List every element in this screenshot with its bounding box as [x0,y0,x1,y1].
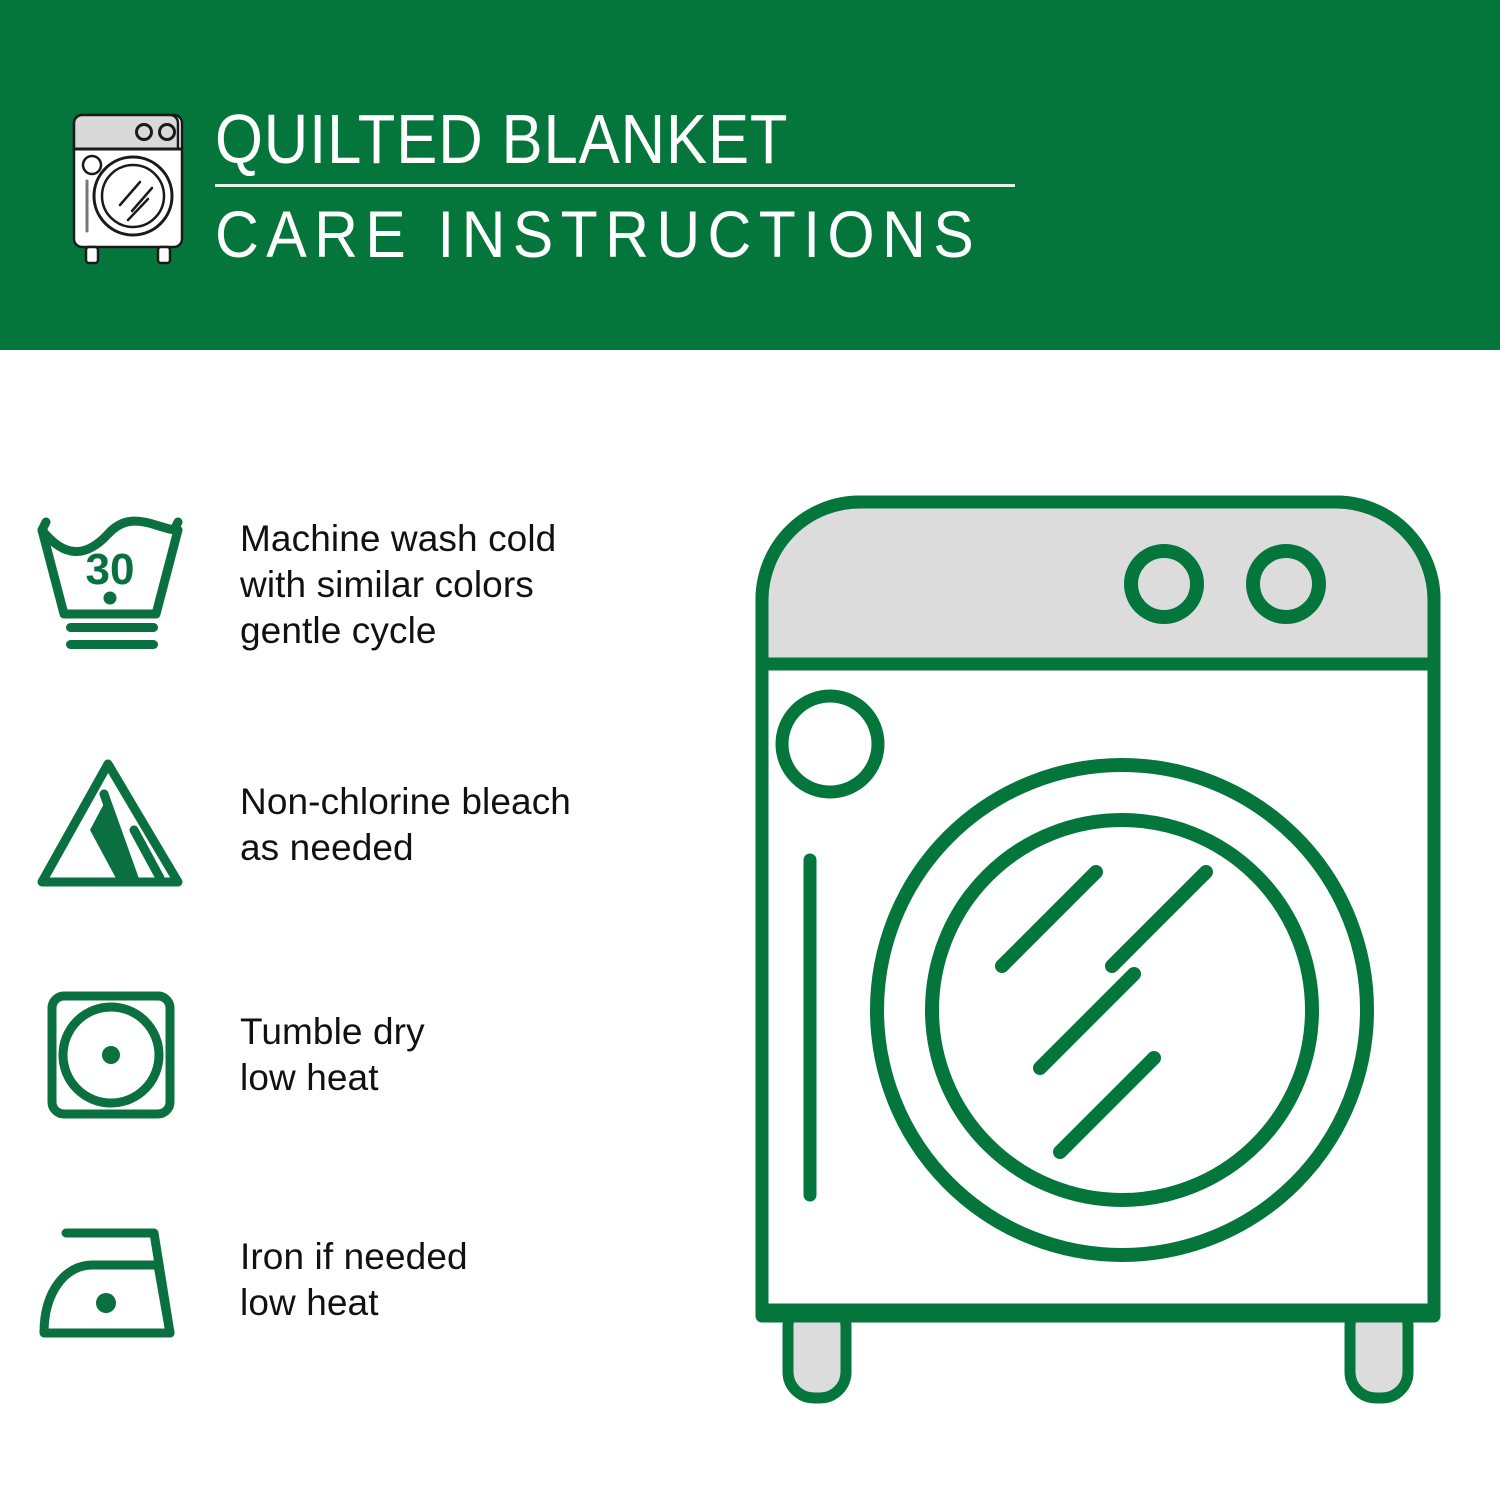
iron-low-heat-icon [0,1205,240,1355]
wash-tub-30-gentle-icon: 30 [0,510,240,660]
header-text-block: QUILTED BLANKET CARE INSTRUCTIONS [215,100,1045,271]
machine-knob-left [1131,551,1197,617]
front-load-washing-machine-illustration [740,480,1460,1440]
care-label-bleach: Non-chlorine bleach as needed [240,779,571,871]
tumble-dry-low-heat-icon [0,980,240,1130]
header-banner: QUILTED BLANKET CARE INSTRUCTIONS [0,0,1500,350]
care-label-iron: Iron if needed low heat [240,1234,468,1326]
page-subtitle: CARE INSTRUCTIONS [215,197,979,271]
washing-machine-icon [62,105,207,270]
care-label-machine-wash: Machine wash cold with similar colors ge… [240,516,556,654]
care-instructions-page: QUILTED BLANKET CARE INSTRUCTIONS 30 [0,0,1500,1500]
wash-temperature-label: 30 [86,545,135,594]
care-row-iron: Iron if needed low heat [0,1205,740,1355]
care-row-tumble-dry: Tumble dry low heat [0,980,740,1130]
non-chlorine-bleach-triangle-icon [0,750,240,900]
machine-dispenser-circle [782,696,878,792]
machine-control-panel [762,502,1434,664]
care-instruction-list: 30 Machine wash cold with similar colors… [0,350,740,1500]
machine-knob-right [1253,551,1319,617]
page-title: QUILTED BLANKET [215,100,945,178]
care-label-tumble-dry: Tumble dry low heat [240,1009,425,1101]
care-row-machine-wash: 30 Machine wash cold with similar colors… [0,510,740,660]
title-divider [215,184,1015,187]
machine-door-inner [932,820,1312,1200]
care-row-bleach: Non-chlorine bleach as needed [0,750,740,900]
